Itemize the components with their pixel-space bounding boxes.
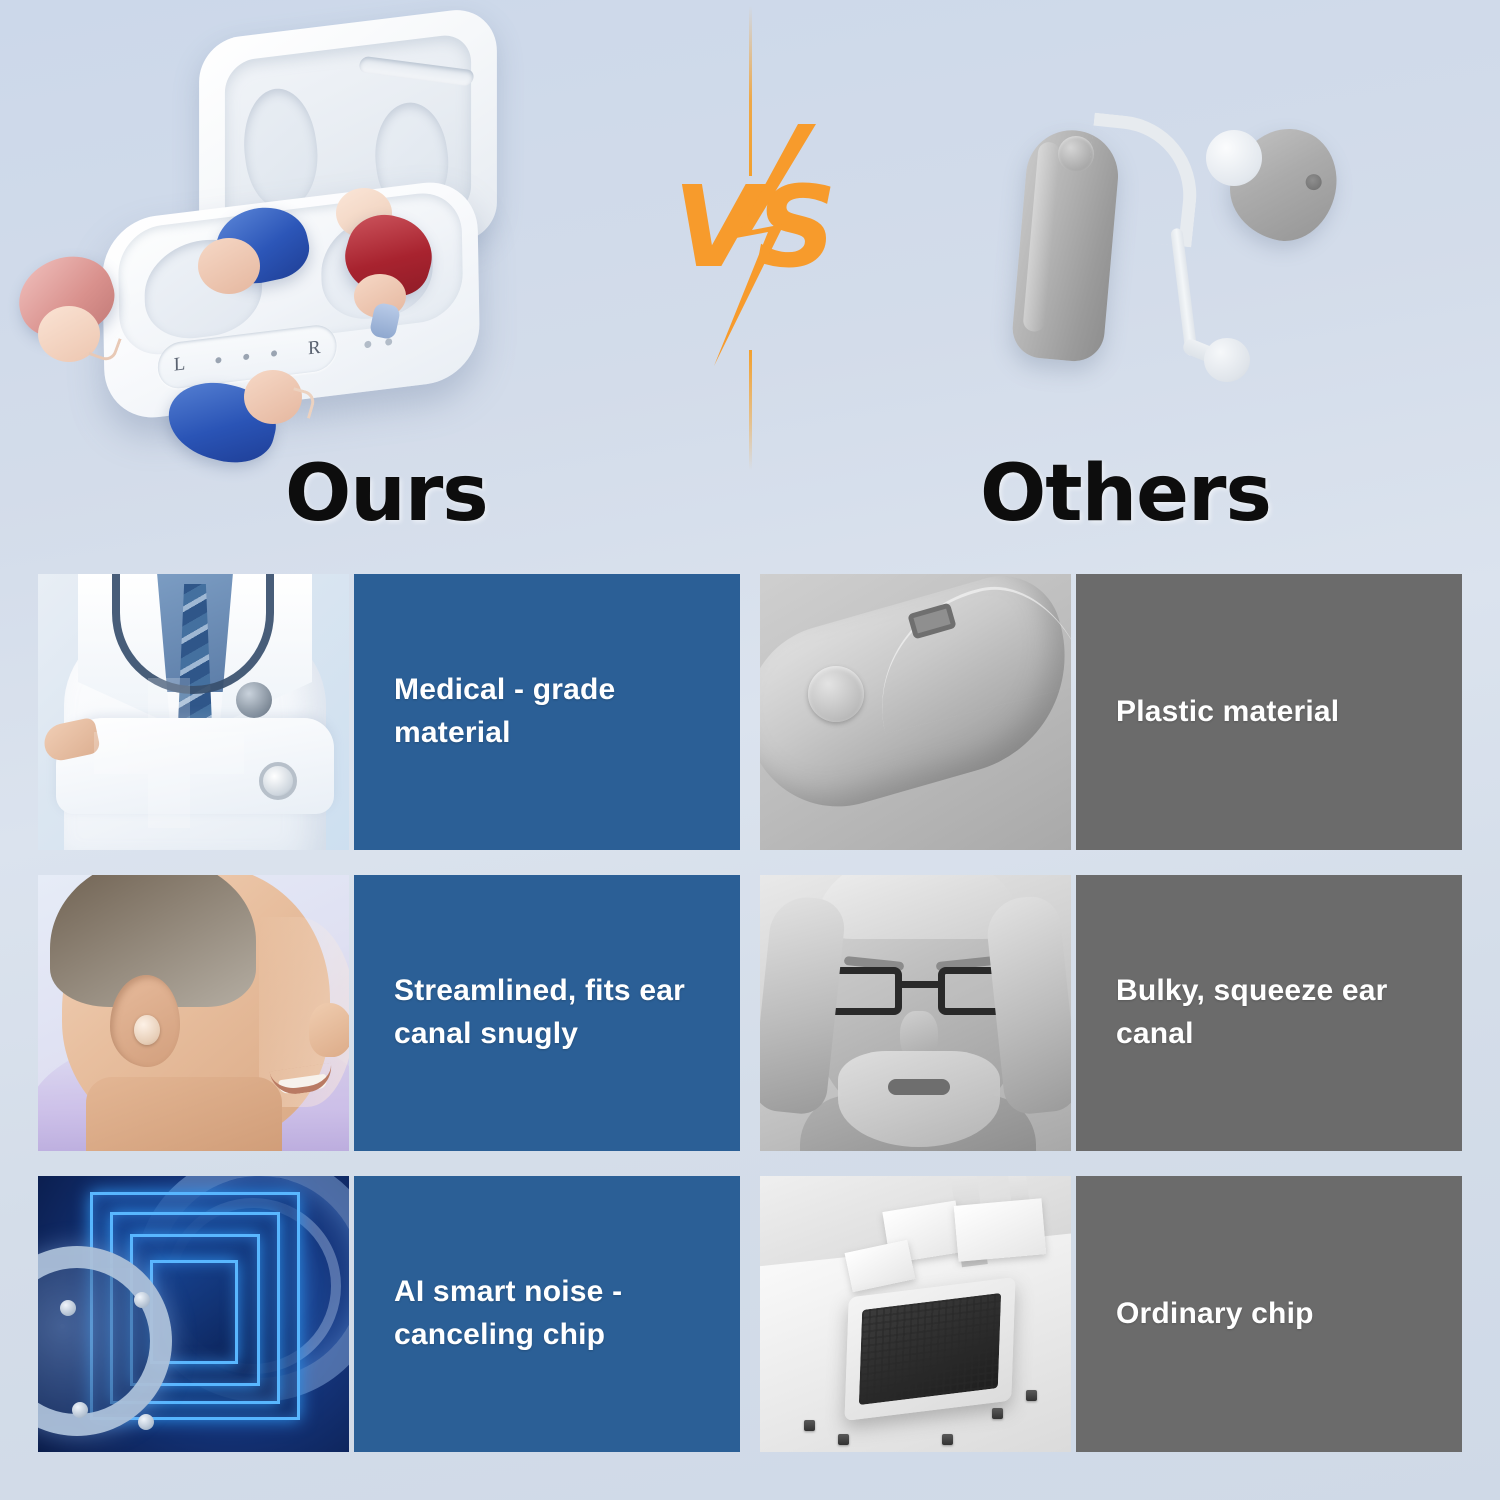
ours-feature-row-3: AI smart noise - canceling chip xyxy=(38,1176,740,1452)
others-feature-1-panel: Plastic material xyxy=(1076,574,1462,850)
case-status-leds xyxy=(364,338,392,348)
case-right-label: R xyxy=(308,337,321,361)
comparison-infographic: L R xyxy=(0,0,1500,1500)
others-feature-3-image xyxy=(760,1176,1071,1452)
ours-feature-row-2: Streamlined, fits ear canal snugly xyxy=(38,875,740,1151)
ours-feature-1-label: Medical - grade material xyxy=(394,669,714,754)
lightning-bolt-icon xyxy=(648,120,858,370)
itc-hearing-aid-dome xyxy=(1206,130,1262,186)
earbud-blue-in-case xyxy=(198,208,308,304)
earbud-red-in-case xyxy=(332,188,452,338)
others-feature-2-label: Bulky, squeeze ear canal xyxy=(1116,970,1436,1055)
others-feature-3-label: Ordinary chip xyxy=(1116,1293,1314,1336)
ours-feature-3-label: AI smart noise - canceling chip xyxy=(394,1271,714,1356)
ours-feature-row-1: Medical - grade material xyxy=(38,574,740,850)
others-feature-row-3: Ordinary chip xyxy=(760,1176,1462,1452)
earbud-blue-tip xyxy=(198,238,260,294)
status-led xyxy=(364,341,371,349)
led-dot xyxy=(216,357,222,364)
others-feature-row-2: Bulky, squeeze ear canal xyxy=(760,875,1462,1151)
bte-sound-tube xyxy=(1170,228,1198,357)
earbud-pink xyxy=(8,258,138,368)
bte-ear-dome xyxy=(1204,338,1250,382)
led-dot xyxy=(244,353,250,360)
ours-feature-1-image xyxy=(38,574,349,850)
ours-feature-2-image xyxy=(38,875,349,1151)
ours-feature-2-panel: Streamlined, fits ear canal snugly xyxy=(354,875,740,1151)
others-column: Plastic material xyxy=(760,574,1462,1452)
ours-feature-1-panel: Medical - grade material xyxy=(354,574,740,850)
ours-product-image: L R xyxy=(90,10,650,430)
others-feature-row-1: Plastic material xyxy=(760,574,1462,850)
others-feature-1-image xyxy=(760,574,1071,850)
ours-feature-3-panel: AI smart noise - canceling chip xyxy=(354,1176,740,1452)
hero-section: L R xyxy=(0,0,1500,470)
lid-slot xyxy=(358,56,475,87)
heading-others: Others xyxy=(980,455,1271,533)
ours-column: Medical - grade material xyxy=(38,574,740,1452)
others-feature-2-image xyxy=(760,875,1071,1151)
status-led xyxy=(385,338,392,346)
ours-feature-2-label: Streamlined, fits ear canal snugly xyxy=(394,970,714,1055)
others-feature-2-panel: Bulky, squeeze ear canal xyxy=(1076,875,1462,1151)
others-feature-1-label: Plastic material xyxy=(1116,691,1339,734)
earbud-blue-floating xyxy=(168,370,328,480)
comparison-grid: Medical - grade material xyxy=(38,574,1462,1452)
led-dot xyxy=(271,350,277,357)
bte-ear-hook xyxy=(1082,113,1204,248)
ours-feature-3-image xyxy=(38,1176,349,1452)
case-led-dots xyxy=(216,350,278,364)
versus-badge: VS xyxy=(648,120,858,370)
others-feature-3-panel: Ordinary chip xyxy=(1076,1176,1462,1452)
others-product-image xyxy=(1010,110,1390,410)
